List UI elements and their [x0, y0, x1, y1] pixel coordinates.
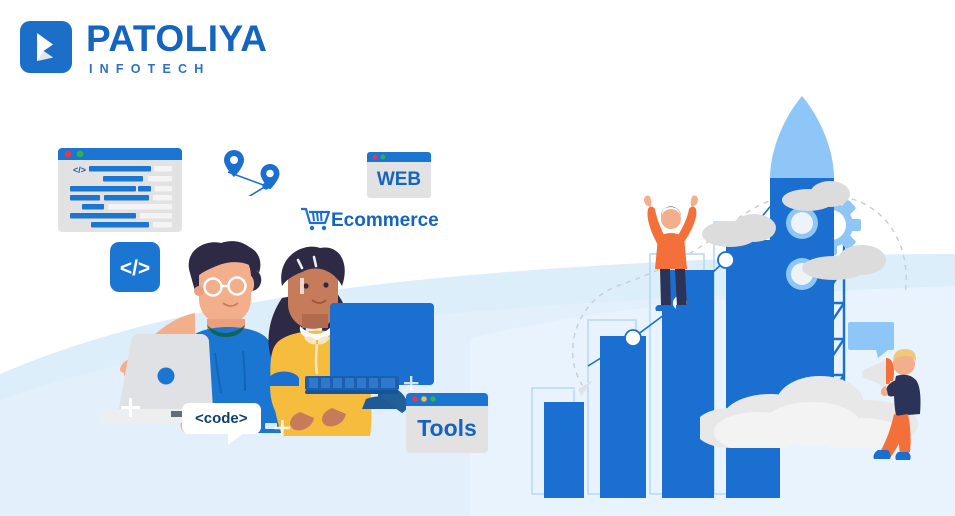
code-speech-bubble[interactable]: <code>: [182, 403, 261, 434]
brand-subtitle: INFOTECH: [89, 63, 268, 76]
map-route-pins-icon[interactable]: [218, 146, 286, 196]
ecommerce-label: Ecommerce: [331, 210, 439, 232]
tools-card[interactable]: Tools: [406, 393, 490, 455]
sparkle-icon: [294, 278, 310, 294]
svg-text:Tools: Tools: [417, 415, 477, 441]
page-root: PATOLIYA INFOTECH </>: [0, 0, 955, 516]
brand-wordmark: PATOLIYA INFOTECH: [86, 18, 268, 76]
keyboard-and-mouse: [255, 370, 405, 404]
shopping-cart-icon: [300, 206, 330, 234]
svg-text:</>: </>: [73, 165, 86, 175]
hero-illustration: </>: [0, 78, 955, 516]
paper-plane-icon: [567, 376, 597, 400]
sparkle-icon: [402, 376, 420, 394]
sparkle-icon: [118, 398, 142, 422]
person-with-megaphone: [860, 334, 940, 474]
chevron-play-mark-icon: [20, 21, 72, 73]
cloud-icon: [700, 208, 790, 248]
brand-title: PATOLIYA: [86, 20, 268, 57]
brand-logo[interactable]: PATOLIYA INFOTECH: [20, 18, 268, 76]
cloud-icon: [800, 240, 910, 280]
svg-text:WEB: WEB: [377, 169, 421, 190]
cloud-icon: [778, 176, 868, 212]
sparkle-icon: [272, 420, 292, 440]
web-card[interactable]: WEB: [367, 152, 433, 200]
code-bubble-label: <code>: [195, 410, 248, 427]
code-editor-window[interactable]: </>: [58, 148, 184, 234]
